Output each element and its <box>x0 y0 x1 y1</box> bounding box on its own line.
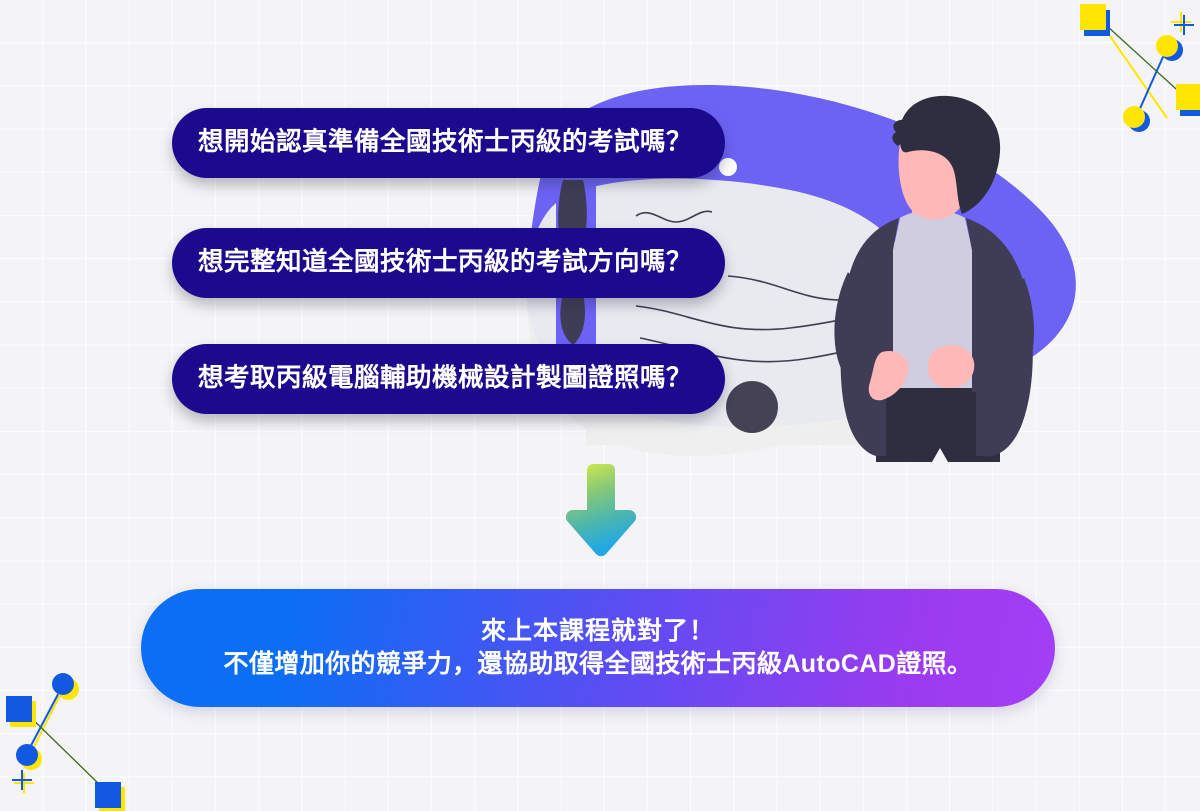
question-pill-1: 想開始認真準備全國技術士丙級的考試嗎？ <box>172 108 725 178</box>
geometric-accent-top-right <box>1068 0 1200 140</box>
arrow-down-icon <box>563 460 639 560</box>
question-pill-3: 想考取丙級電腦輔助機械設計製圖證照嗎？ <box>172 344 725 414</box>
crosshair-icon <box>1171 12 1194 35</box>
accent-square-2 <box>1176 84 1200 110</box>
character-hand-right <box>928 345 975 388</box>
cta-headline: 來上本課程就對了！ <box>481 619 715 644</box>
geometric-accent-bottom-left <box>0 669 132 811</box>
dark-dot <box>726 381 778 433</box>
question-pill-3-text: 想考取丙級電腦輔助機械設計製圖證照嗎？ <box>198 366 692 392</box>
accent-square-1 <box>1080 4 1106 30</box>
promo-poster: 想開始認真準備全國技術士丙級的考試嗎？ 想完整知道全國技術士丙級的考試方向嗎？ … <box>0 0 1200 811</box>
accent-circle-1 <box>1156 35 1178 57</box>
accent-circle-3 <box>52 673 74 695</box>
crosshair-icon-2 <box>12 770 34 793</box>
question-pill-2-text: 想完整知道全國技術士丙級的考試方向嗎？ <box>198 250 692 276</box>
question-pill-2: 想完整知道全國技術士丙級的考試方向嗎？ <box>172 228 725 298</box>
cta-subline: 不僅增加你的競爭力，還協助取得全國技術士丙級AutoCAD證照。 <box>224 652 973 677</box>
question-pill-1-text: 想開始認真準備全國技術士丙級的考試嗎？ <box>198 130 692 156</box>
accent-square-3 <box>6 696 32 722</box>
white-dot <box>719 158 737 176</box>
accent-circle-4 <box>16 744 38 766</box>
accent-circle-2 <box>1123 106 1145 128</box>
cta-banner: 來上本課程就對了！ 不僅增加你的競爭力，還協助取得全國技術士丙級AutoCAD證… <box>141 589 1055 707</box>
accent-square-4 <box>95 782 121 808</box>
